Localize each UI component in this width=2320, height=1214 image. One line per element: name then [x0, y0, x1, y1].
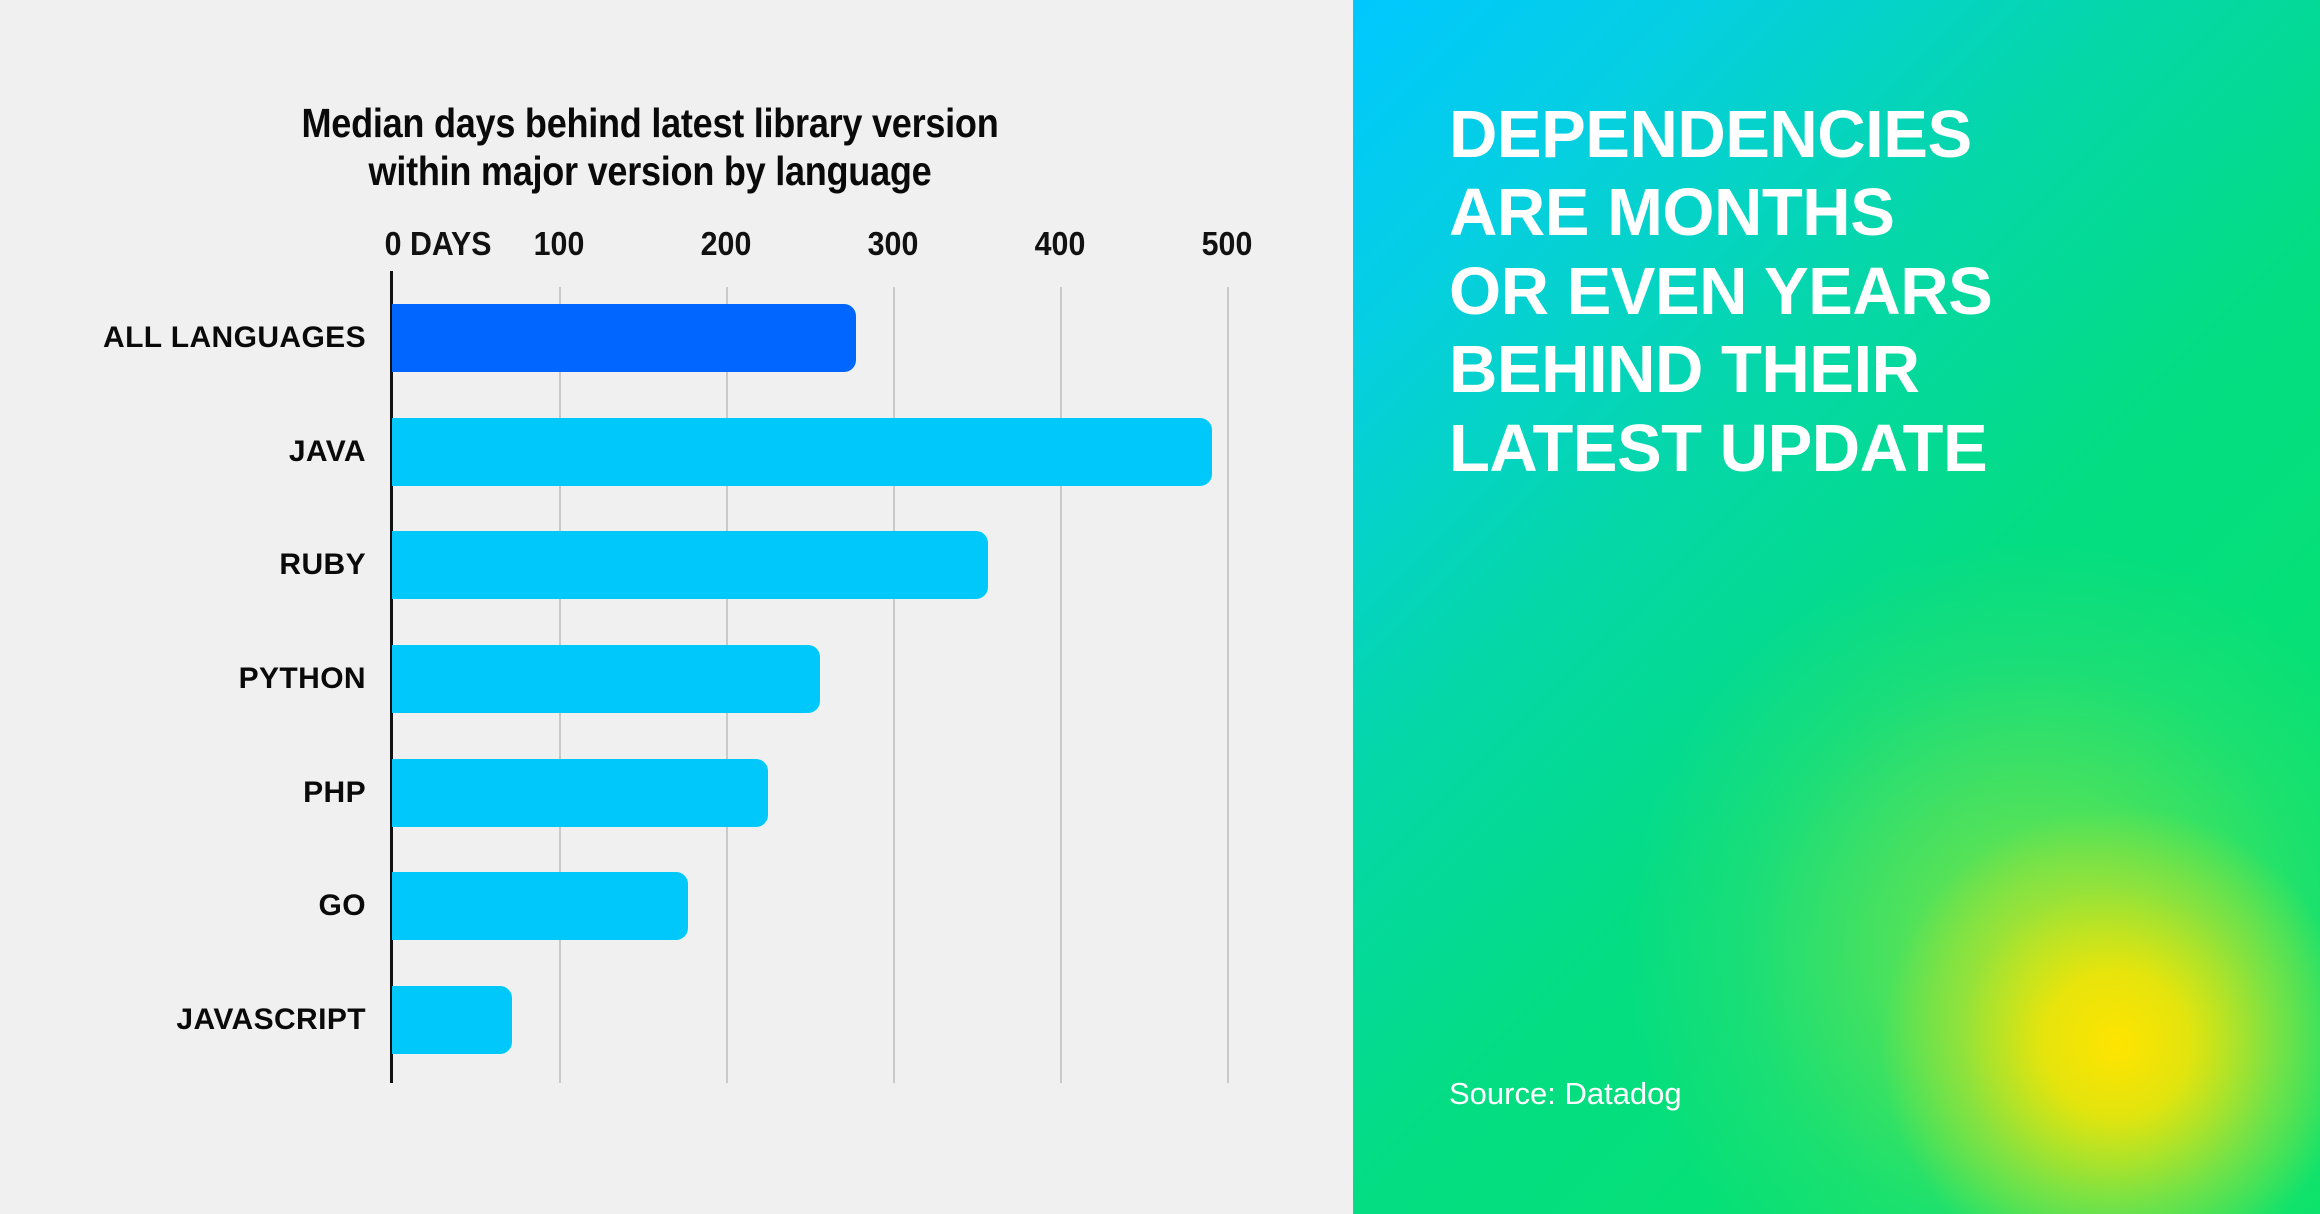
x-tick-label-300: 300: [868, 225, 919, 263]
callout-panel: Dependencies are months or even years be…: [1353, 0, 2320, 1214]
category-label-ruby: RUBY: [279, 531, 366, 599]
source-attribution: Source: Datadog: [1449, 1076, 1682, 1112]
x-tick-label-500: 500: [1202, 225, 1253, 263]
bar-python: [392, 645, 820, 713]
bar-all-languages: [392, 304, 856, 372]
category-label-all-languages: ALL LANGUAGES: [103, 304, 366, 372]
bar-row: PYTHON: [392, 645, 1227, 713]
bar-row: RUBY: [392, 531, 1227, 599]
bar-java: [392, 418, 1212, 486]
chart-panel: Median days behind latest library versio…: [0, 0, 1353, 1214]
callout-headline: Dependencies are months or even years be…: [1449, 96, 2209, 488]
bar-row: ALL LANGUAGES: [392, 304, 1227, 372]
bar-ruby: [392, 531, 988, 599]
category-label-javascript: JAVASCRIPT: [176, 986, 366, 1054]
category-label-php: PHP: [303, 759, 366, 827]
bar-row: JAVASCRIPT: [392, 986, 1227, 1054]
category-label-python: PYTHON: [239, 645, 366, 713]
chart-title: Median days behind latest library versio…: [78, 100, 1222, 195]
bar-javascript: [392, 986, 512, 1054]
x-tick-label-200: 200: [701, 225, 752, 263]
x-tick-label-100: 100: [534, 225, 585, 263]
bar-row: JAVA: [392, 418, 1227, 486]
bar-go: [392, 872, 688, 940]
x-tick-label-400: 400: [1035, 225, 1086, 263]
gridline-500: [1227, 287, 1229, 1083]
x-tick-label-0: 0 DAYS: [385, 225, 492, 263]
bar-php: [392, 759, 768, 827]
category-label-java: JAVA: [289, 418, 366, 486]
bar-row: PHP: [392, 759, 1227, 827]
bar-chart-plot-area: 0 DAYS100200300400500 ALL LANGUAGESJAVAR…: [392, 287, 1227, 1083]
category-label-go: GO: [319, 872, 366, 940]
infographic-canvas: Median days behind latest library versio…: [0, 0, 2320, 1214]
bar-row: GO: [392, 872, 1227, 940]
